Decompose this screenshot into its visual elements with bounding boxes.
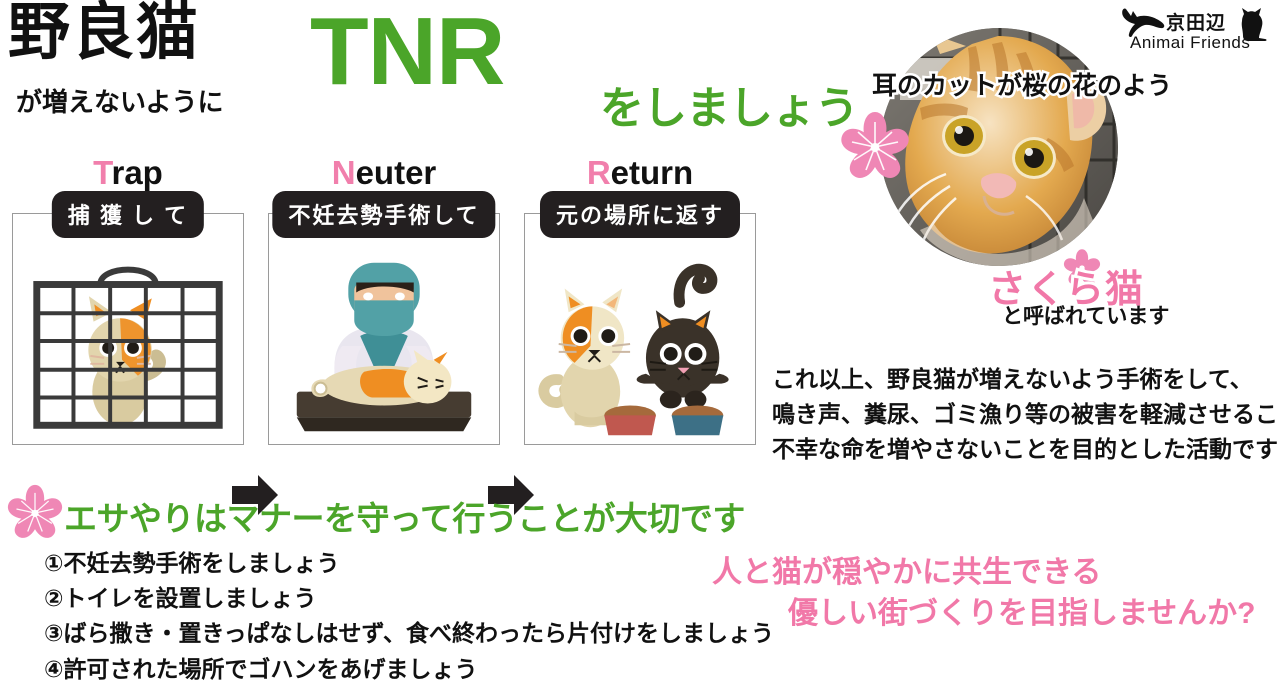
step-title-rest: rap — [111, 154, 162, 191]
step-label-trap: 捕 獲 し て — [52, 191, 204, 238]
step-title-initial: R — [587, 154, 611, 191]
step-frame-return: 元の場所に返す — [524, 213, 756, 445]
list-item: ④許可された場所でゴハンをあげましょう — [44, 652, 774, 681]
step-return: Return 元の場所に返す — [524, 155, 756, 445]
poster-root: 野良猫 が増えないように TNR をしましょう 京田辺 Animai Frien… — [0, 0, 1280, 681]
list-item: ②トイレを設置しましょう — [44, 581, 774, 616]
description-line: 不幸な命を増やさないことを目的とした活動です — [772, 432, 1280, 467]
step-title-rest: eturn — [611, 154, 694, 191]
step-label-return: 元の場所に返す — [540, 191, 740, 238]
tnr-headline: TNR — [310, 4, 504, 100]
description-text: これ以上、野良猫が増えないよう手術をして、 鳴き声、糞尿、ゴミ漁り等の被害を軽減… — [772, 362, 1280, 467]
tnr-headline-suffix: をしましょう — [600, 72, 858, 136]
organization-logo: 京田辺 Animai Friends — [1114, 4, 1274, 62]
cat-in-trap-cage-illustration — [13, 240, 243, 446]
step-title-initial: N — [332, 154, 356, 191]
closing-message: 人と猫が穏やかに共生できる 優しい街づくりを目指しませんか? — [712, 552, 1255, 635]
step-title-trap: Trap — [12, 155, 244, 191]
tnr-steps: Trap 捕 獲 し て — [0, 155, 770, 455]
step-title-rest: euter — [356, 154, 437, 191]
list-item: ③ばら撒き・置きっぱなしはせず、食べ終わったら片付けをしましょう — [44, 616, 774, 651]
logo-jp-name: 京田辺 — [1166, 8, 1226, 35]
closing-line-2: 優しい街づくりを目指しませんか? — [712, 593, 1255, 634]
ear-cut-caption: 耳のカットが桜の花のよう — [872, 66, 1172, 102]
sakura-cat-sublabel: と呼ばれています — [1002, 300, 1169, 330]
list-item: ①不妊去勢手術をしましょう — [44, 546, 774, 581]
step-frame-trap: 捕 獲 し て — [12, 213, 244, 445]
description-line: 鳴き声、糞尿、ゴミ漁り等の被害を軽減させること、 — [772, 397, 1280, 432]
logo-en-name: Animai Friends — [1130, 33, 1250, 53]
step-title-return: Return — [524, 155, 756, 191]
step-title-initial: T — [93, 154, 111, 191]
page-subtitle: が増えないように — [16, 82, 223, 119]
sakura-blossom-icon — [834, 106, 916, 188]
page-title: 野良猫 — [8, 2, 200, 64]
veterinarian-surgery-illustration — [269, 240, 499, 446]
step-neuter: Neuter 不妊去勢手術して — [268, 155, 500, 445]
closing-line-1: 人と猫が穏やかに共生できる — [712, 556, 1101, 589]
description-line: これ以上、野良猫が増えないよう手術をして、 — [772, 362, 1280, 397]
step-trap: Trap 捕 獲 し て — [12, 155, 244, 445]
two-cats-eating-illustration — [525, 240, 755, 446]
step-frame-neuter: 不妊去勢手術して — [268, 213, 500, 445]
manner-heading: エサやりはマナーを守って行うことが大切です — [64, 492, 745, 540]
step-title-neuter: Neuter — [268, 155, 500, 191]
manner-list: ①不妊去勢手術をしましょう ②トイレを設置しましょう ③ばら撒き・置きっぱなしは… — [44, 546, 774, 681]
sakura-blossom-icon — [2, 480, 68, 546]
step-label-neuter: 不妊去勢手術して — [272, 191, 495, 238]
